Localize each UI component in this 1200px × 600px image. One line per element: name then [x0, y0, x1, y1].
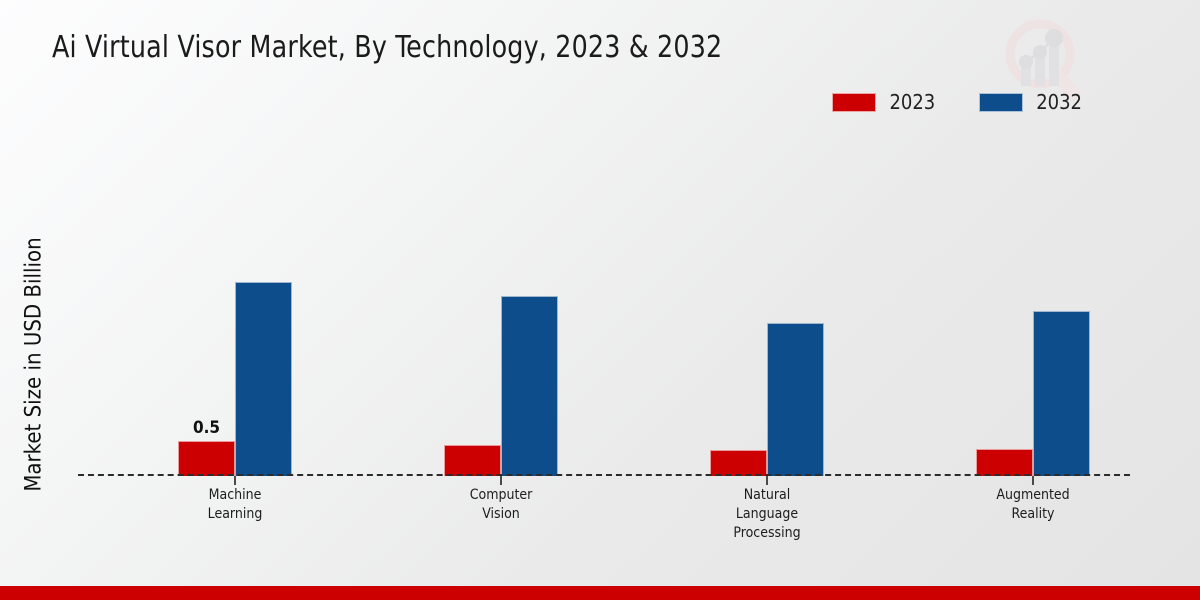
- category-label-natural-language-processing: Natural Language Processing: [733, 486, 800, 543]
- bar-value-label: 0.5: [193, 418, 220, 438]
- bar-2032-natural-language-processing[interactable]: [767, 323, 824, 476]
- legend-label-2023: 2023: [889, 92, 935, 112]
- chart-title: Ai Virtual Visor Market, By Technology, …: [52, 30, 722, 65]
- bar-2032-augmented-reality[interactable]: [1033, 311, 1090, 476]
- bar-2032-machine-learning[interactable]: [235, 282, 292, 476]
- bar-2032-computer-vision[interactable]: [501, 296, 558, 476]
- bar-group-machine-learning: 0.5 Machine Learning: [178, 140, 292, 476]
- bar-2023-computer-vision[interactable]: [444, 445, 501, 476]
- x-axis-baseline: [78, 474, 1130, 476]
- bar-2023-machine-learning[interactable]: 0.5: [178, 441, 235, 476]
- footer-bar: [0, 586, 1200, 600]
- legend-label-2032: 2032: [1036, 92, 1082, 112]
- axis-tick: [234, 476, 236, 485]
- legend-swatch-2023: [832, 93, 876, 112]
- legend-swatch-2032: [979, 93, 1023, 112]
- bar-2023-natural-language-processing[interactable]: [710, 450, 767, 476]
- axis-tick: [766, 476, 768, 485]
- bar-group-natural-language-processing: Natural Language Processing: [710, 140, 824, 476]
- category-label-augmented-reality: Augmented Reality: [996, 486, 1069, 524]
- bar-group-augmented-reality: Augmented Reality: [976, 140, 1090, 476]
- legend-item-2023[interactable]: 2023: [832, 92, 935, 112]
- axis-tick: [500, 476, 502, 485]
- chart-container: Ai Virtual Visor Market, By Technology, …: [0, 0, 1200, 600]
- category-label-computer-vision: Computer Vision: [470, 486, 533, 524]
- chart-legend: 2023 2032: [832, 92, 1082, 112]
- category-label-machine-learning: Machine Learning: [208, 486, 263, 524]
- bar-group-computer-vision: Computer Vision: [444, 140, 558, 476]
- plot-area: 0.5 Machine Learning Computer Vision Nat…: [78, 140, 1130, 476]
- bar-2023-augmented-reality[interactable]: [976, 449, 1033, 476]
- legend-item-2032[interactable]: 2032: [979, 92, 1082, 112]
- y-axis-title: Market Size in USD Billion: [22, 105, 47, 600]
- axis-tick: [1032, 476, 1034, 485]
